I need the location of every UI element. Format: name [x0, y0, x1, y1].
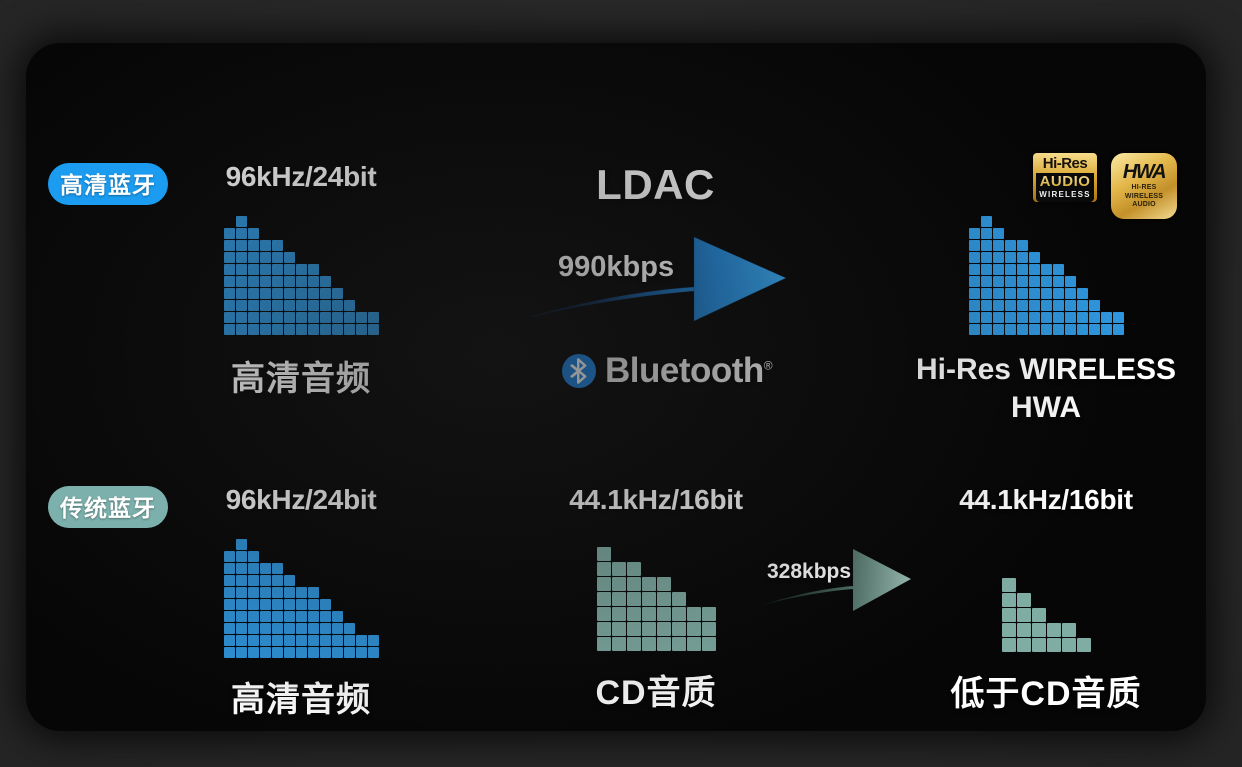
chart-cell	[1017, 312, 1028, 323]
chart-column	[1032, 608, 1046, 652]
chart-cell	[1113, 324, 1124, 335]
chart-cell	[236, 216, 247, 227]
chart-cell	[224, 324, 235, 335]
chart-cell	[1017, 638, 1031, 652]
chart-cell	[296, 300, 307, 311]
chart-cell	[224, 575, 235, 586]
chart-cell	[1077, 300, 1088, 311]
chart-cell	[320, 623, 331, 634]
chart-cell	[969, 264, 980, 275]
chart-cell	[272, 587, 283, 598]
chart-cell	[993, 276, 1004, 287]
chart-cell	[993, 324, 1004, 335]
chart-cell	[969, 228, 980, 239]
chart-column	[248, 551, 259, 658]
chart-cell	[1032, 608, 1046, 622]
chart-column	[284, 575, 295, 658]
chart-cell	[1041, 264, 1052, 275]
chart-cell	[344, 324, 355, 335]
chart-cell	[308, 635, 319, 646]
chart-cell	[248, 623, 259, 634]
chart-cell	[224, 563, 235, 574]
chart-cell	[320, 312, 331, 323]
chart-cell	[1029, 252, 1040, 263]
chart-cell	[597, 622, 611, 636]
hi-res-logo-top: Hi-Res	[1036, 156, 1094, 172]
chart-cell	[320, 324, 331, 335]
chart-column	[597, 547, 611, 651]
chart-column	[1017, 593, 1031, 652]
chart-cell	[1005, 324, 1016, 335]
chart-cell	[224, 647, 235, 658]
chart-cell	[1005, 276, 1016, 287]
chart-cell	[597, 577, 611, 591]
chart-cell	[248, 240, 259, 251]
hi-res-logo-wireless: WIRELESS	[1036, 190, 1094, 201]
chart-cell	[969, 240, 980, 251]
hd-bitrate-label: 990kbps	[558, 251, 674, 284]
chart-cell	[224, 264, 235, 275]
chart-cell	[612, 622, 626, 636]
chart-cell	[248, 563, 259, 574]
chart-cell	[236, 228, 247, 239]
hwa-logo-subtitle: HI-RES WIRELESS AUDIO	[1125, 184, 1163, 210]
chart-column	[320, 276, 331, 335]
chart-cell	[284, 276, 295, 287]
chart-cell	[308, 599, 319, 610]
chart-cell	[224, 611, 235, 622]
chart-cell	[296, 599, 307, 610]
chart-cell	[260, 312, 271, 323]
chart-cell	[272, 611, 283, 622]
chart-cell	[981, 288, 992, 299]
chart-cell	[969, 288, 980, 299]
chart-column	[672, 592, 686, 651]
chart-cell	[260, 587, 271, 598]
chart-cell	[356, 635, 367, 646]
chart-cell	[260, 635, 271, 646]
chart-cell	[284, 587, 295, 598]
chart-cell	[332, 288, 343, 299]
chart-column	[320, 599, 331, 658]
chart-cell	[1017, 608, 1031, 622]
chart-cell	[260, 288, 271, 299]
chart-cell	[224, 300, 235, 311]
chart-cell	[1077, 638, 1091, 652]
chart-cell	[296, 623, 307, 634]
hwa-logo: HWA HI-RES WIRELESS AUDIO	[1111, 153, 1177, 219]
chart-cell	[1047, 638, 1061, 652]
chart-cell	[1017, 288, 1028, 299]
chart-column	[1041, 264, 1052, 335]
chart-cell	[642, 607, 656, 621]
chart-column	[332, 288, 343, 335]
chart-cell	[224, 599, 235, 610]
chart-column	[344, 300, 355, 335]
chart-cell	[993, 240, 1004, 251]
chart-cell	[1053, 264, 1064, 275]
chart-cell	[597, 607, 611, 621]
chart-cell	[969, 324, 980, 335]
chart-cell	[1041, 300, 1052, 311]
chart-column	[642, 577, 656, 651]
chart-cell	[308, 623, 319, 634]
chart-cell	[1077, 324, 1088, 335]
chart-cell	[1089, 324, 1100, 335]
chart-column	[1065, 276, 1076, 335]
chart-cell	[248, 635, 259, 646]
chart-cell	[1041, 276, 1052, 287]
chart-column	[1029, 252, 1040, 335]
chart-cell	[993, 288, 1004, 299]
chart-cell	[993, 300, 1004, 311]
chart-cell	[1077, 288, 1088, 299]
chart-column	[308, 264, 319, 335]
chart-cell	[248, 276, 259, 287]
chart-cell	[260, 300, 271, 311]
chart-cell	[236, 312, 247, 323]
chart-cell	[642, 577, 656, 591]
chart-cell	[272, 276, 283, 287]
row-badge-classic-bluetooth: 传统蓝牙	[48, 486, 168, 528]
chart-cell	[1053, 276, 1064, 287]
chart-cell	[224, 635, 235, 646]
chart-cell	[284, 599, 295, 610]
chart-cell	[981, 228, 992, 239]
chart-cell	[627, 622, 641, 636]
chart-column	[296, 264, 307, 335]
chart-cell	[1029, 324, 1040, 335]
chart-cell	[284, 611, 295, 622]
chart-cell	[248, 611, 259, 622]
chart-cell	[1002, 608, 1016, 622]
chart-cell	[1101, 312, 1112, 323]
chart-cell	[296, 312, 307, 323]
chart-cell	[260, 240, 271, 251]
chart-cell	[1032, 623, 1046, 637]
chart-cell	[260, 599, 271, 610]
classic-cd-group: 44.1kHz/16bit CD音质	[521, 484, 791, 714]
chart-cell	[1113, 312, 1124, 323]
ldac-title: LDAC	[498, 161, 813, 209]
chart-cell	[236, 276, 247, 287]
chart-cell	[320, 635, 331, 646]
chart-cell	[1017, 324, 1028, 335]
hd-result-caption-line2: HWA	[886, 389, 1206, 427]
chart-cell	[1065, 312, 1076, 323]
chart-cell	[308, 276, 319, 287]
chart-cell	[969, 276, 980, 287]
chart-cell	[224, 288, 235, 299]
chart-cell	[236, 587, 247, 598]
chart-cell	[296, 264, 307, 275]
chart-cell	[236, 240, 247, 251]
chart-cell	[368, 312, 379, 323]
classic-transfer-arrow: 328kbps	[753, 537, 913, 622]
chart-cell	[1029, 300, 1040, 311]
chart-cell	[248, 300, 259, 311]
chart-cell	[284, 288, 295, 299]
chart-cell	[1089, 312, 1100, 323]
chart-cell	[260, 623, 271, 634]
chart-cell	[260, 611, 271, 622]
chart-cell	[260, 324, 271, 335]
chart-cell	[672, 592, 686, 606]
chart-cell	[284, 635, 295, 646]
chart-cell	[284, 575, 295, 586]
chart-cell	[284, 647, 295, 658]
chart-column	[687, 607, 701, 651]
chart-cell	[981, 276, 992, 287]
chart-cell	[1065, 276, 1076, 287]
hd-result-chart	[886, 215, 1206, 335]
chart-cell	[344, 300, 355, 311]
hd-source-caption: 高清音频	[166, 351, 436, 400]
chart-column	[1017, 240, 1028, 335]
chart-cell	[284, 264, 295, 275]
chart-cell	[981, 324, 992, 335]
bluetooth-glyph-svg	[569, 358, 589, 384]
chart-cell	[627, 607, 641, 621]
chart-cell	[344, 312, 355, 323]
chart-column	[308, 587, 319, 658]
chart-cell	[702, 622, 716, 636]
chart-cell	[981, 252, 992, 263]
classic-source-group: 96kHz/24bit 高清音频	[166, 484, 436, 721]
chart-cell	[272, 252, 283, 263]
chart-cell	[672, 607, 686, 621]
chart-cell	[612, 637, 626, 651]
chart-cell	[272, 300, 283, 311]
chart-column	[260, 563, 271, 658]
hwa-sub-line1: HI-RES	[1125, 184, 1163, 193]
chart-cell	[224, 551, 235, 562]
chart-column	[993, 228, 1004, 335]
chart-cell	[260, 252, 271, 263]
chart-cell	[642, 637, 656, 651]
bluetooth-text: Bluetooth®	[605, 351, 772, 391]
chart-cell	[248, 264, 259, 275]
chart-cell	[1005, 252, 1016, 263]
chart-cell	[284, 324, 295, 335]
chart-column	[296, 587, 307, 658]
chart-cell	[236, 551, 247, 562]
chart-cell	[236, 324, 247, 335]
chart-column	[1005, 240, 1016, 335]
chart-cell	[272, 312, 283, 323]
chart-cell	[627, 562, 641, 576]
classic-source-spec: 96kHz/24bit	[166, 484, 436, 516]
chart-cell	[260, 575, 271, 586]
chart-cell	[344, 635, 355, 646]
chart-cell	[1002, 593, 1016, 607]
chart-cell	[224, 252, 235, 263]
chart-cell	[308, 264, 319, 275]
chart-cell	[368, 635, 379, 646]
chart-cell	[248, 587, 259, 598]
classic-result-caption: 低于CD音质	[911, 666, 1181, 715]
chart-column	[344, 623, 355, 658]
chart-column	[272, 240, 283, 335]
chart-cell	[1029, 288, 1040, 299]
chart-cell	[612, 577, 626, 591]
chart-cell	[993, 252, 1004, 263]
chart-cell	[248, 252, 259, 263]
chart-cell	[1062, 623, 1076, 637]
chart-cell	[332, 611, 343, 622]
chart-cell	[272, 635, 283, 646]
chart-column	[981, 216, 992, 335]
chart-cell	[248, 551, 259, 562]
chart-cell	[272, 324, 283, 335]
chart-cell	[993, 312, 1004, 323]
chart-column	[1113, 312, 1124, 335]
classic-source-caption: 高清音频	[166, 672, 436, 721]
chart-cell	[308, 300, 319, 311]
chart-column	[969, 228, 980, 335]
chart-cell	[1029, 312, 1040, 323]
chart-cell	[344, 647, 355, 658]
bluetooth-icon	[562, 354, 596, 388]
chart-cell	[627, 592, 641, 606]
chart-cell	[224, 587, 235, 598]
chart-cell	[1041, 288, 1052, 299]
hd-transfer-group: LDAC 990kbps	[498, 161, 813, 209]
chart-cell	[236, 539, 247, 550]
chart-cell	[308, 587, 319, 598]
chart-cell	[597, 592, 611, 606]
classic-cd-chart	[521, 546, 791, 651]
chart-cell	[1017, 252, 1028, 263]
chart-cell	[296, 587, 307, 598]
chart-column	[1053, 264, 1064, 335]
chart-cell	[687, 607, 701, 621]
chart-cell	[236, 611, 247, 622]
chart-cell	[296, 288, 307, 299]
chart-cell	[308, 611, 319, 622]
hd-result-caption-line1: Hi-Res WIRELESS	[886, 351, 1206, 389]
chart-cell	[969, 312, 980, 323]
chart-cell	[248, 312, 259, 323]
chart-cell	[236, 599, 247, 610]
chart-cell	[236, 635, 247, 646]
chart-column	[260, 240, 271, 335]
chart-cell	[236, 623, 247, 634]
chart-cell	[642, 592, 656, 606]
chart-cell	[657, 622, 671, 636]
chart-cell	[248, 228, 259, 239]
chart-cell	[1017, 240, 1028, 251]
chart-column	[702, 607, 716, 651]
chart-cell	[1053, 312, 1064, 323]
chart-column	[1047, 623, 1061, 652]
chart-cell	[657, 592, 671, 606]
chart-cell	[308, 288, 319, 299]
chart-cell	[296, 611, 307, 622]
chart-cell	[236, 563, 247, 574]
hd-source-group: 96kHz/24bit 高清音频	[166, 161, 436, 400]
chart-cell	[1089, 300, 1100, 311]
chart-cell	[1017, 264, 1028, 275]
chart-cell	[260, 647, 271, 658]
chart-cell	[1065, 300, 1076, 311]
chart-cell	[612, 592, 626, 606]
hwa-sub-line3: AUDIO	[1125, 201, 1163, 210]
chart-column	[236, 216, 247, 335]
registered-mark: ®	[764, 358, 772, 372]
chart-cell	[320, 288, 331, 299]
classic-bitrate-label: 328kbps	[767, 560, 851, 584]
chart-cell	[320, 276, 331, 287]
chart-column	[356, 312, 367, 335]
chart-cell	[1077, 312, 1088, 323]
chart-cell	[356, 324, 367, 335]
hwa-sub-line2: WIRELESS	[1125, 193, 1163, 202]
chart-cell	[260, 264, 271, 275]
hd-transfer-arrow: 990kbps	[528, 221, 788, 336]
chart-cell	[368, 324, 379, 335]
hi-res-logo-bottom: AUDIO WIRELESS	[1036, 173, 1094, 202]
chart-cell	[1017, 300, 1028, 311]
chart-cell	[332, 324, 343, 335]
chart-column	[248, 228, 259, 335]
chart-column	[224, 228, 235, 335]
chart-cell	[332, 300, 343, 311]
chart-cell	[1065, 324, 1076, 335]
chart-cell	[702, 607, 716, 621]
chart-cell	[260, 276, 271, 287]
chart-cell	[248, 324, 259, 335]
chart-cell	[368, 647, 379, 658]
chart-cell	[272, 264, 283, 275]
chart-cell	[272, 240, 283, 251]
chart-cell	[236, 647, 247, 658]
chart-column	[1077, 288, 1088, 335]
chart-cell	[981, 300, 992, 311]
chart-cell	[981, 264, 992, 275]
chart-cell	[272, 288, 283, 299]
infographic-root: 高清蓝牙 96kHz/24bit 高清音频 LDAC	[0, 0, 1242, 767]
chart-cell	[1041, 324, 1052, 335]
chart-cell	[332, 635, 343, 646]
chart-cell	[224, 276, 235, 287]
row-badge-hd-bluetooth: 高清蓝牙	[48, 163, 168, 205]
classic-result-spec: 44.1kHz/16bit	[911, 484, 1181, 516]
chart-cell	[308, 647, 319, 658]
chart-cell	[1047, 623, 1061, 637]
chart-cell	[272, 563, 283, 574]
chart-cell	[356, 312, 367, 323]
content-card: 高清蓝牙 96kHz/24bit 高清音频 LDAC	[26, 43, 1206, 731]
chart-cell	[969, 300, 980, 311]
chart-cell	[981, 216, 992, 227]
chart-cell	[1029, 264, 1040, 275]
chart-cell	[981, 240, 992, 251]
chart-cell	[248, 599, 259, 610]
chart-cell	[284, 252, 295, 263]
chart-column	[1089, 300, 1100, 335]
chart-cell	[332, 312, 343, 323]
chart-cell	[993, 228, 1004, 239]
bluetooth-wordmark: Bluetooth®	[562, 351, 772, 391]
chart-column	[224, 551, 235, 658]
chart-cell	[260, 563, 271, 574]
chart-cell	[272, 575, 283, 586]
chart-cell	[224, 623, 235, 634]
chart-cell	[296, 635, 307, 646]
chart-cell	[1053, 324, 1064, 335]
classic-source-chart	[166, 538, 436, 658]
